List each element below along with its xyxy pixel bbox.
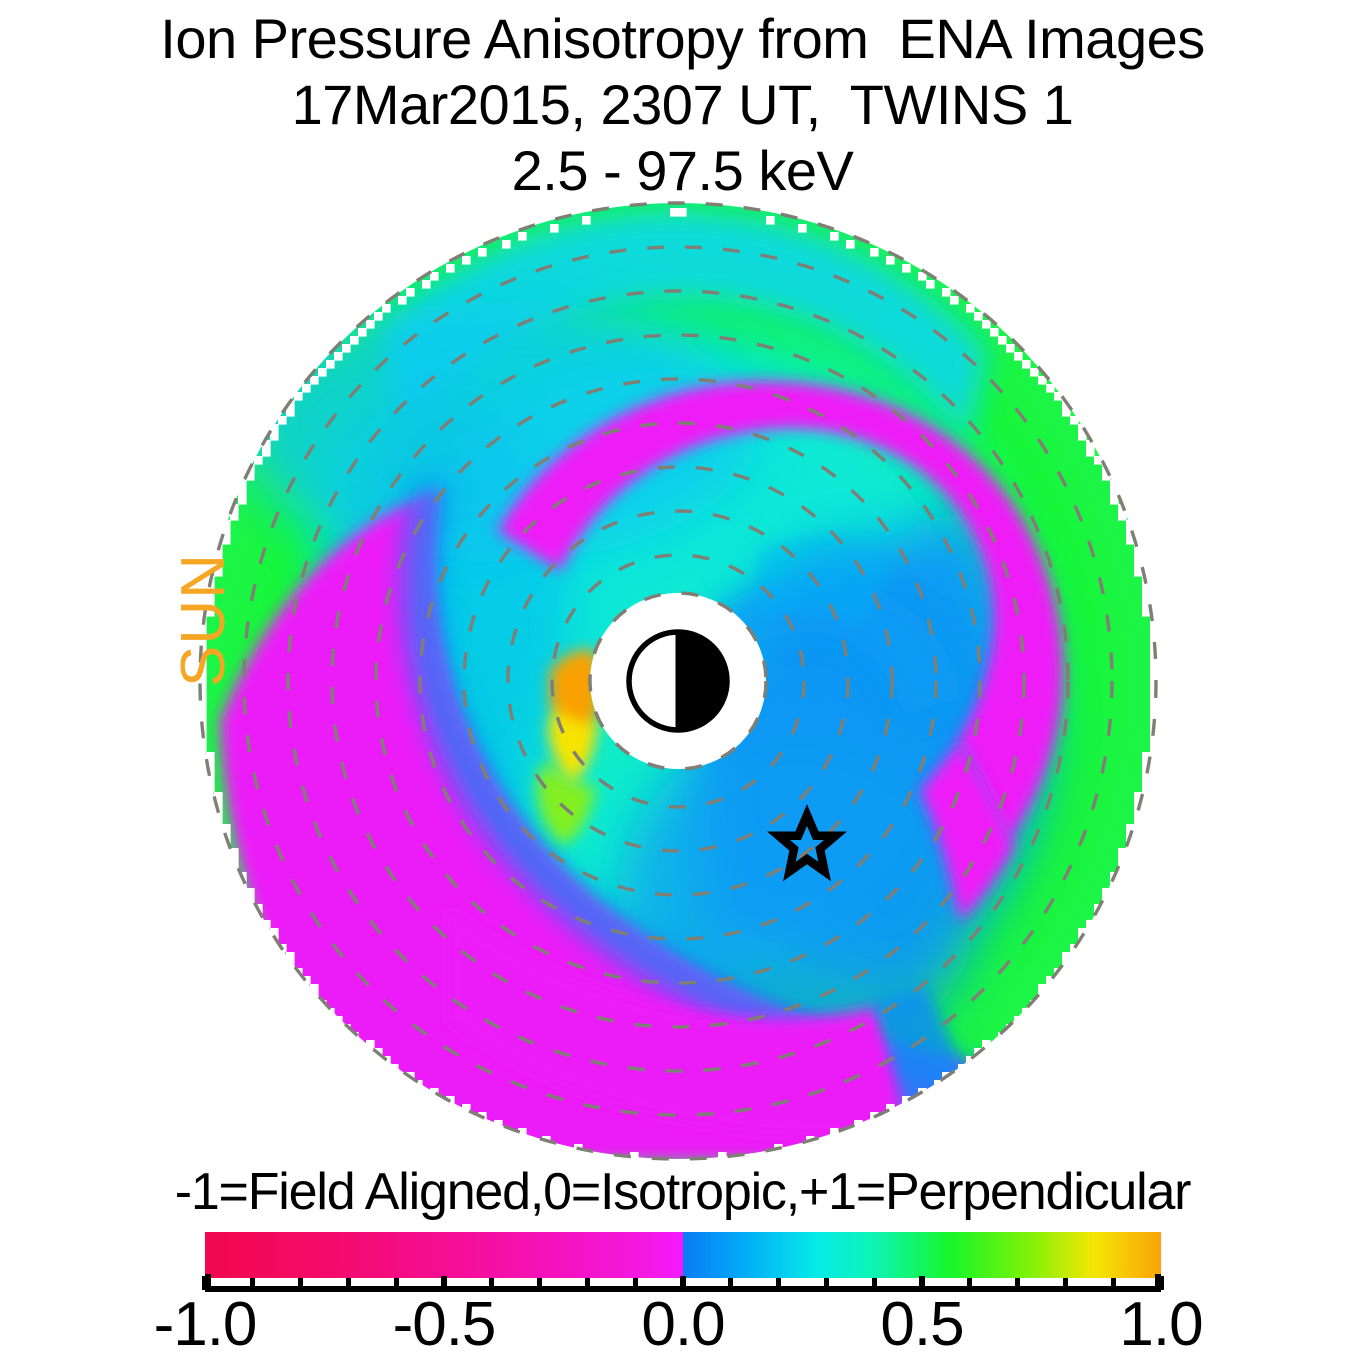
edge-pixel [310,992,319,1001]
edge-pixel [494,1120,503,1129]
edge-pixel [846,240,855,249]
edge-pixel [310,376,319,385]
edge-pixel [1150,704,1158,713]
edge-pixel [1142,776,1151,785]
edge-pixel [1110,488,1119,497]
edge-pixel [478,248,487,257]
edge-pixel [446,264,455,273]
edge-pixel [1070,416,1079,425]
edge-pixel [966,304,975,313]
edge-pixel [950,296,959,305]
edge-pixel [1118,848,1127,857]
edge-pixel [198,744,207,753]
edge-pixel [262,920,271,929]
edge-pixel [582,216,591,225]
edge-pixel [518,232,527,241]
edge-pixel [238,488,247,497]
edge-pixel [1134,552,1143,561]
colorbar-tick [728,1278,733,1288]
edge-pixel [462,256,471,265]
edge-pixel [238,496,247,505]
edge-pixel [766,216,775,225]
edge-pixel [230,856,239,865]
edge-pixel [254,456,263,465]
edge-pixel [718,1152,727,1161]
edge-pixel [1062,952,1071,961]
edge-pixel [206,784,215,793]
edge-pixel [1086,448,1095,457]
colorbar-tick [967,1278,972,1288]
edge-pixel [1110,480,1119,489]
edge-pixel [206,776,215,785]
colorbar-tick-label: 1.0 [1061,1288,1261,1362]
edge-pixel [382,304,391,313]
edge-pixel [1142,784,1151,793]
earth-icon [629,631,727,731]
edge-pixel [334,352,343,361]
edge-pixel [1142,592,1151,601]
edge-pixel [214,816,223,825]
edge-pixel [398,296,407,305]
colorbar-tick [1111,1278,1116,1288]
colorbar-tick [250,1278,255,1288]
edge-pixel [326,1008,335,1017]
edge-pixel [318,368,327,377]
edge-pixel [374,312,383,321]
edge-pixel [1014,352,1023,361]
edge-pixel [1086,920,1095,929]
edge-pixel [830,1128,839,1137]
edge-pixel [1134,816,1143,825]
colorbar-tick-label: 0.0 [583,1288,783,1362]
edge-pixel [1150,744,1158,753]
edge-pixel [1150,624,1158,633]
edge-pixel [1102,888,1111,897]
colorbar-tick [1063,1278,1068,1288]
edge-pixel [1006,344,1015,353]
colorbar-tick [489,1278,494,1288]
edge-pixel [262,448,271,457]
colorbar-tick [824,1278,829,1288]
chart-title-block: Ion Pressure Anisotropy from ENA Images … [0,6,1365,204]
edge-pixel [270,432,279,441]
polar-anisotropy-plot [198,201,1158,1161]
edge-pixel [294,392,303,401]
edge-pixel [926,280,935,289]
edge-pixel [286,408,295,417]
edge-pixel [798,224,807,233]
edge-pixel [1126,520,1135,529]
colorbar-caption: -1=Field Aligned,0=Isotropic,+1=Perpendi… [0,1163,1365,1221]
edge-pixel [550,224,559,233]
edge-pixel [1054,392,1063,401]
edge-pixel [670,208,679,217]
edge-pixel [1038,984,1047,993]
edge-pixel [502,240,511,249]
edge-pixel [238,480,247,489]
edge-pixel [1150,672,1158,681]
edge-pixel [1150,664,1158,673]
colorbar-tick [872,1278,877,1288]
edge-pixel [1102,896,1111,905]
edge-pixel [830,232,839,241]
edge-pixel [1150,632,1158,641]
colorbar-tick-labels: -1.0-0.50.00.51.0 [0,1288,1365,1368]
edge-pixel [1022,360,1031,369]
edge-pixel [230,848,239,857]
edge-pixel [982,320,991,329]
colorbar-tick [298,1278,303,1288]
edge-pixel [230,864,239,873]
edge-pixel [334,1016,343,1025]
edge-pixel [342,344,351,353]
edge-pixel [1062,960,1071,969]
colorbar-tick [633,1278,638,1288]
edge-pixel [278,416,287,425]
edge-pixel [222,824,231,833]
edge-pixel [886,256,895,265]
colorbar-tick [585,1278,590,1288]
edge-pixel [406,288,415,297]
edge-pixel [1094,456,1103,465]
title-line-1: Ion Pressure Anisotropy from ENA Images [0,6,1365,72]
colorbar-tick-label: 0.5 [822,1288,1022,1362]
edge-pixel [366,1040,375,1049]
edge-pixel [1150,736,1158,745]
colorbar-tick-label: -0.5 [344,1288,544,1362]
edge-pixel [358,328,367,337]
edge-pixel [870,248,879,257]
edge-pixel [286,960,295,969]
edge-pixel [958,1064,967,1073]
edge-pixel [302,384,311,393]
edge-pixel [678,208,687,217]
edge-pixel [366,320,375,329]
colorbar-tick [776,1278,781,1288]
edge-pixel [974,312,983,321]
edge-pixel [1142,584,1151,593]
colorbar-tick [1015,1278,1020,1288]
edge-pixel [1118,856,1127,865]
edge-pixel [1134,560,1143,569]
sun-direction-label: SUN [169,520,239,720]
edge-pixel [854,1120,863,1129]
edge-pixel [990,328,999,337]
colorbar-tick [346,1278,351,1288]
edge-pixel [350,336,359,345]
edge-pixel [630,1152,639,1161]
edge-pixel [326,360,335,369]
edge-pixel [1110,496,1119,505]
edge-pixel [1014,1016,1023,1025]
edge-pixel [1022,1008,1031,1017]
colorbar-tick [394,1278,399,1288]
colorbar-tick-label: -1.0 [105,1288,305,1362]
edge-pixel [246,888,255,897]
colorbar [205,1232,1161,1278]
edge-pixel [1030,368,1039,377]
edge-pixel [1046,384,1055,393]
edge-pixel [998,336,1007,345]
title-line-3: 2.5 - 97.5 keV [0,138,1365,204]
edge-pixel [942,288,951,297]
colorbar-tick [537,1278,542,1288]
colorbar-gradient [205,1232,1161,1278]
edge-pixel [310,984,319,993]
edge-pixel [902,264,911,273]
edge-pixel [286,952,295,961]
edge-pixel [390,1064,399,1073]
edge-pixel [422,280,431,289]
edge-pixel [1118,512,1127,521]
title-line-2: 17Mar2015, 2307 UT, TWINS 1 [0,72,1365,138]
